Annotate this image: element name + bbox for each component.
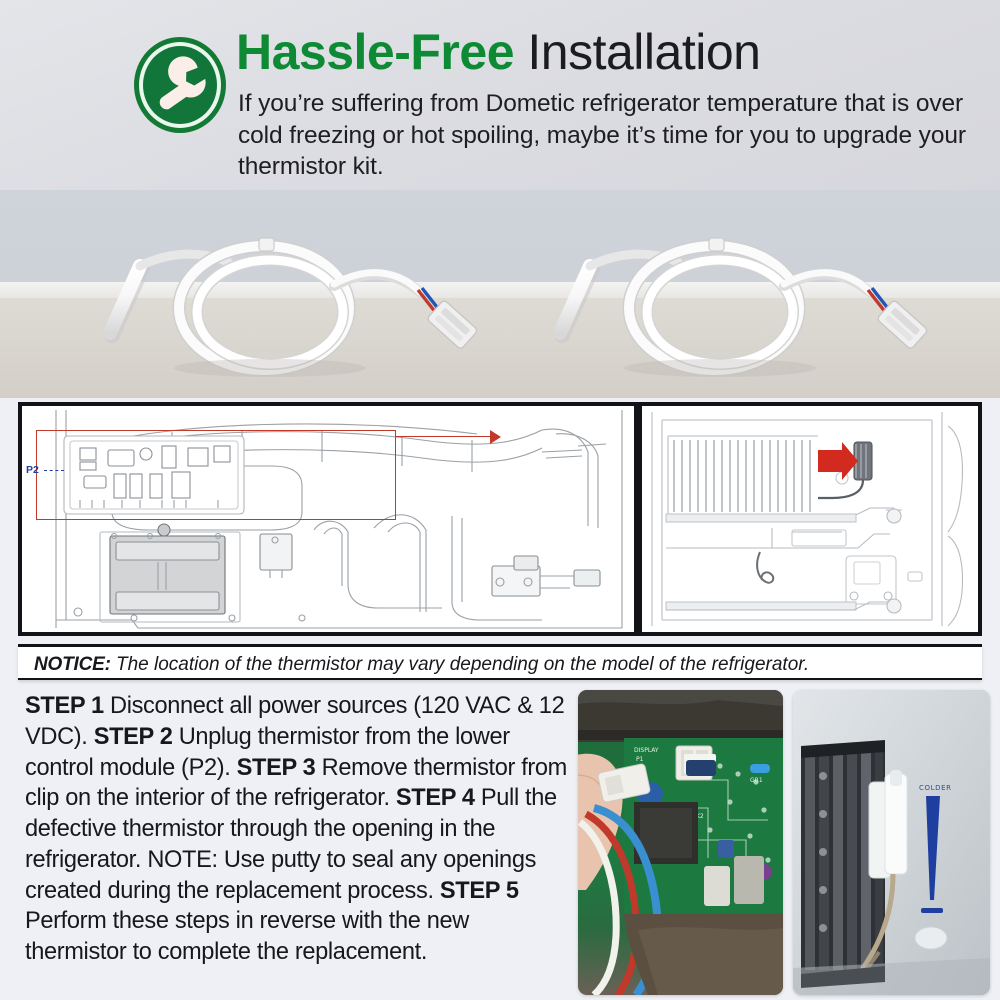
callout-arrow-line: [396, 436, 494, 437]
note-label: NOTE:: [147, 847, 217, 873]
step-label: STEP 2: [94, 724, 173, 750]
header-band: Hassle-Free Installation If you’re suffe…: [0, 0, 1000, 190]
thermistor-cable-right: [500, 190, 1000, 398]
callout-arrow-head: [490, 430, 501, 444]
step-label: STEP 3: [237, 755, 316, 781]
notice-label: NOTICE:: [34, 654, 111, 675]
control-module-highlight-box: [36, 430, 396, 520]
thermistor-clip-photo: COLDER: [793, 690, 990, 995]
notice-text: The location of the thermistor may vary …: [116, 654, 809, 675]
notice-text-row: NOTICE: The location of the thermistor m…: [34, 654, 809, 676]
refrigerator-interior-diagram: [642, 406, 978, 632]
header-subtitle: If you’re suffering from Dometic refrige…: [238, 88, 968, 183]
svg-text:GR1: GR1: [750, 777, 763, 784]
control-module-photo: DISPLAY P1 K2 GR1: [578, 690, 783, 995]
title-rest: Installation: [514, 24, 760, 80]
wrench-in-circle-icon: [130, 33, 232, 138]
step-label: STEP 4: [396, 785, 475, 811]
svg-text:P1: P1: [636, 756, 644, 763]
step-label: STEP 5: [440, 878, 519, 904]
diagram-panel: P2: [18, 402, 982, 636]
thermistor-pointer-arrow: [818, 442, 858, 480]
infographic-page: Hassle-Free Installation If you’re suffe…: [0, 0, 1000, 1000]
step-text: Perform these steps in reverse with the …: [25, 908, 469, 965]
page-title: Hassle-Free Installation: [236, 27, 760, 77]
notice-bar: NOTICE: The location of the thermistor m…: [18, 644, 982, 680]
title-highlight: Hassle-Free: [236, 24, 514, 80]
thermistor-cable-left: [50, 190, 550, 398]
svg-text:DISPLAY: DISPLAY: [634, 747, 659, 754]
p2-leader-line: [44, 470, 64, 471]
steps-list: STEP 1 Disconnect all power sources (120…: [25, 691, 570, 968]
step-label: STEP 1: [25, 693, 104, 719]
svg-text:COLDER: COLDER: [919, 784, 952, 792]
product-photo-strip: [0, 190, 1000, 398]
cooling-unit-diagram: P2: [22, 406, 634, 632]
p2-callout-label: P2: [26, 464, 39, 476]
panel-divider: [634, 406, 642, 632]
